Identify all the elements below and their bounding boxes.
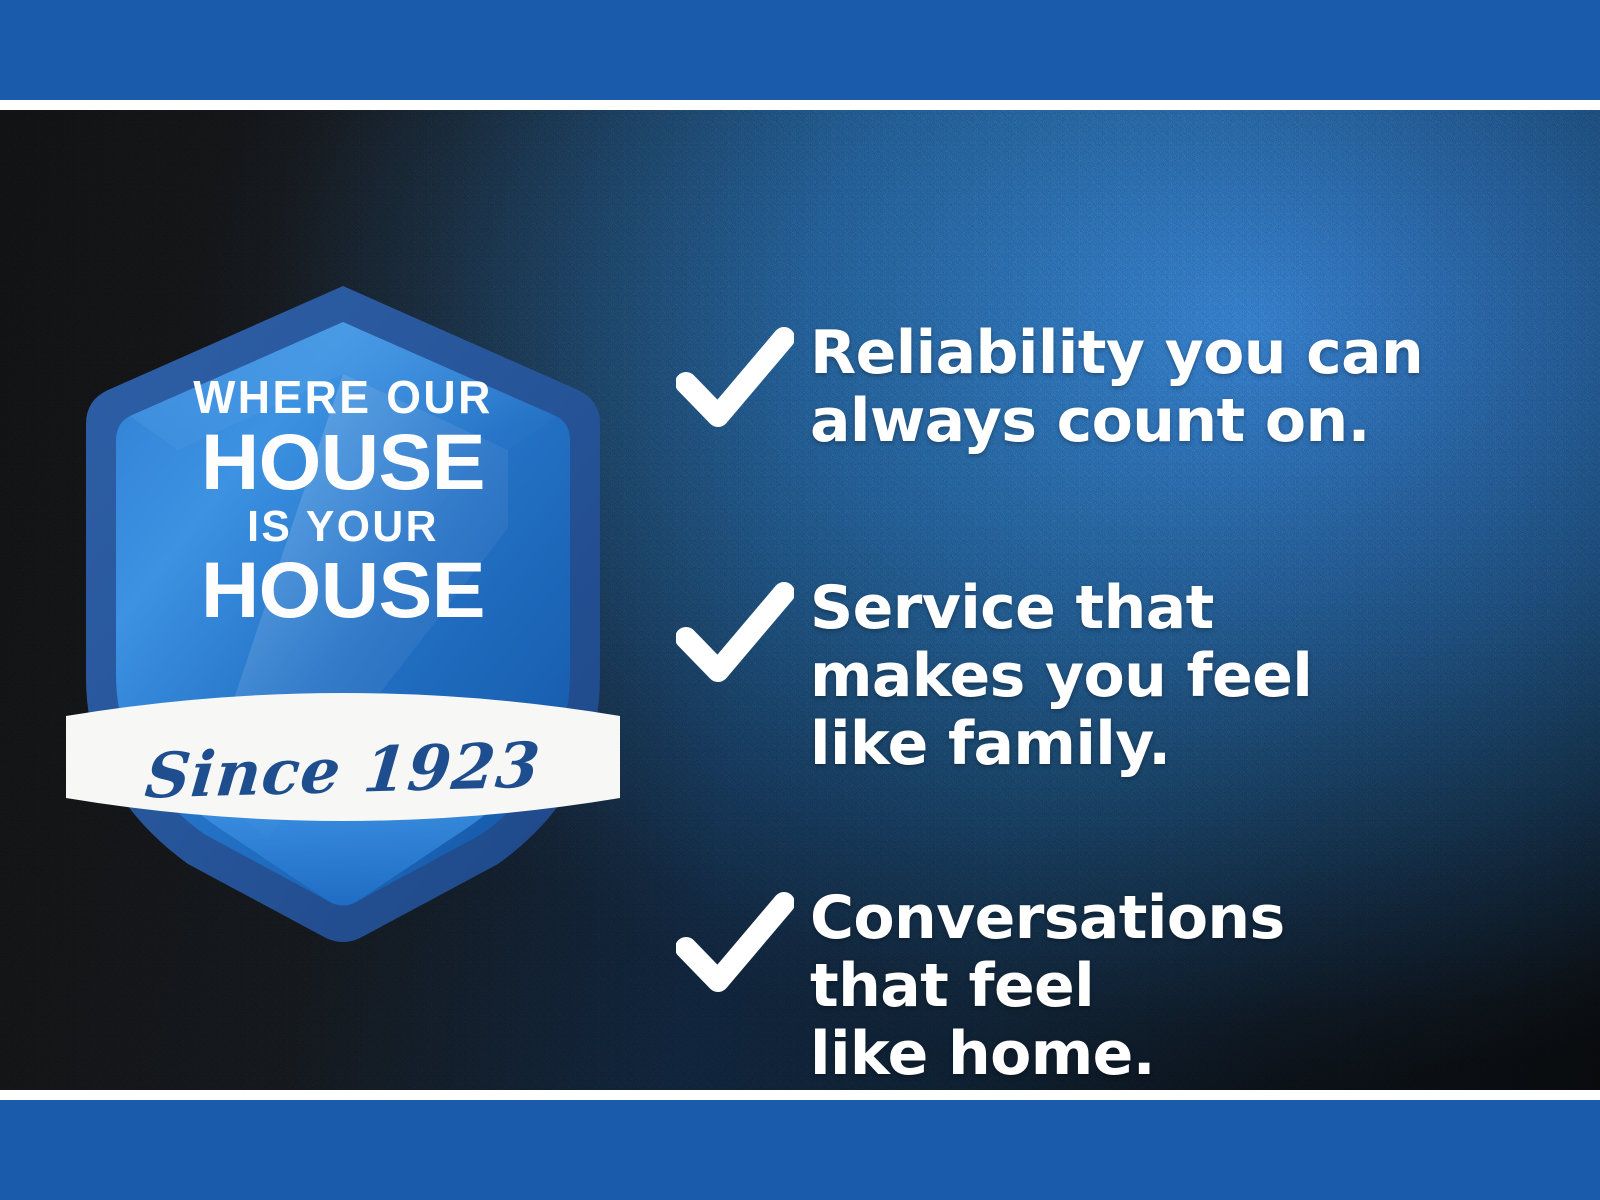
list-item: Reliability you can always count on. [660,320,1540,456]
top-brand-bar [0,0,1600,100]
benefit-line: makes you feel [810,643,1540,711]
benefit-text: Conversations that feel like home. [810,885,1540,1088]
list-item: Conversations that feel like home. [660,885,1540,1088]
benefit-text: Service that makes you feel like family. [810,575,1540,778]
shield-icon [78,278,608,948]
ribbon-band [66,693,620,821]
checkmark-cell [660,320,810,434]
shield-badge-logo: WHERE OUR HOUSE IS YOUR HOUSE Since 1923 [78,278,608,948]
benefit-line: Conversations [810,885,1540,953]
ribbon-banner: Since 1923 [60,686,626,846]
benefit-text: Reliability you can always count on. [810,320,1540,456]
top-white-divider [0,100,1600,110]
bottom-white-divider [0,1090,1600,1100]
benefit-line: like home. [810,1021,1540,1089]
benefit-line: always count on. [810,388,1540,456]
checkmark-icon [676,891,794,999]
ribbon-shape [60,686,626,846]
checkmark-cell [660,575,810,689]
promo-graphic: WHERE OUR HOUSE IS YOUR HOUSE Since 1923 [0,0,1600,1200]
list-item: Service that makes you feel like family. [660,575,1540,778]
benefits-list: Reliability you can always count on. Ser… [660,220,1540,1090]
benefit-line: that feel [810,953,1540,1021]
main-stage: WHERE OUR HOUSE IS YOUR HOUSE Since 1923 [0,110,1600,1090]
checkmark-cell [660,885,810,999]
checkmark-icon [676,326,794,434]
benefit-line: Service that [810,575,1540,643]
benefit-line: Reliability you can [810,320,1540,388]
benefit-line: like family. [810,711,1540,779]
checkmark-icon [676,581,794,689]
bottom-brand-bar [0,1100,1600,1200]
